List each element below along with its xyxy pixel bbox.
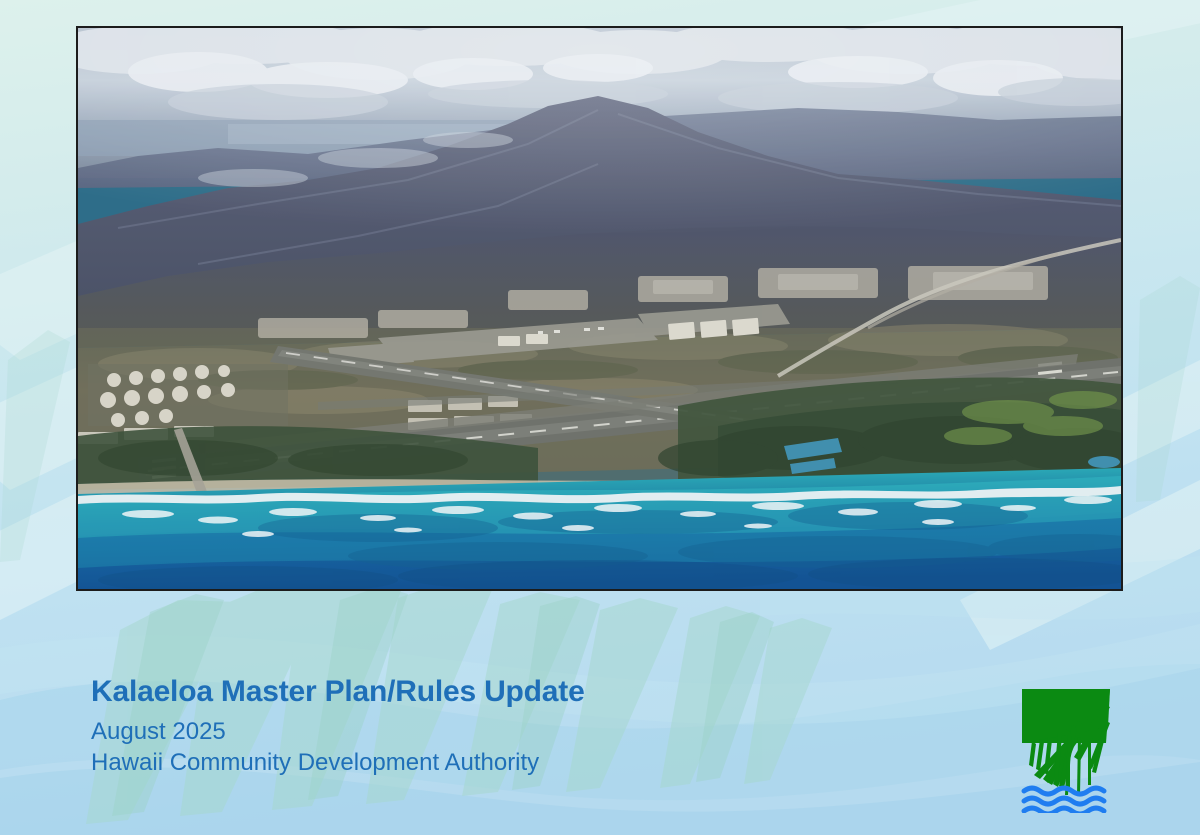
aerial-photo-frame	[76, 26, 1123, 591]
page-title: Kalaeloa Master Plan/Rules Update	[91, 675, 891, 709]
organization-name: Hawaii Community Development Authority	[91, 747, 891, 778]
aerial-photo-graphic	[78, 28, 1121, 589]
presentation-date: August 2025	[91, 716, 891, 747]
hcda-logo-icon	[1018, 687, 1114, 813]
palm-frond-icon	[1022, 689, 1110, 795]
hcda-logo	[1018, 687, 1114, 813]
aerial-photo-kalaeloa	[78, 28, 1121, 589]
title-slide: Kalaeloa Master Plan/Rules Update August…	[0, 0, 1200, 835]
title-text-block: Kalaeloa Master Plan/Rules Update August…	[91, 675, 891, 778]
wave-icon	[1024, 788, 1104, 813]
